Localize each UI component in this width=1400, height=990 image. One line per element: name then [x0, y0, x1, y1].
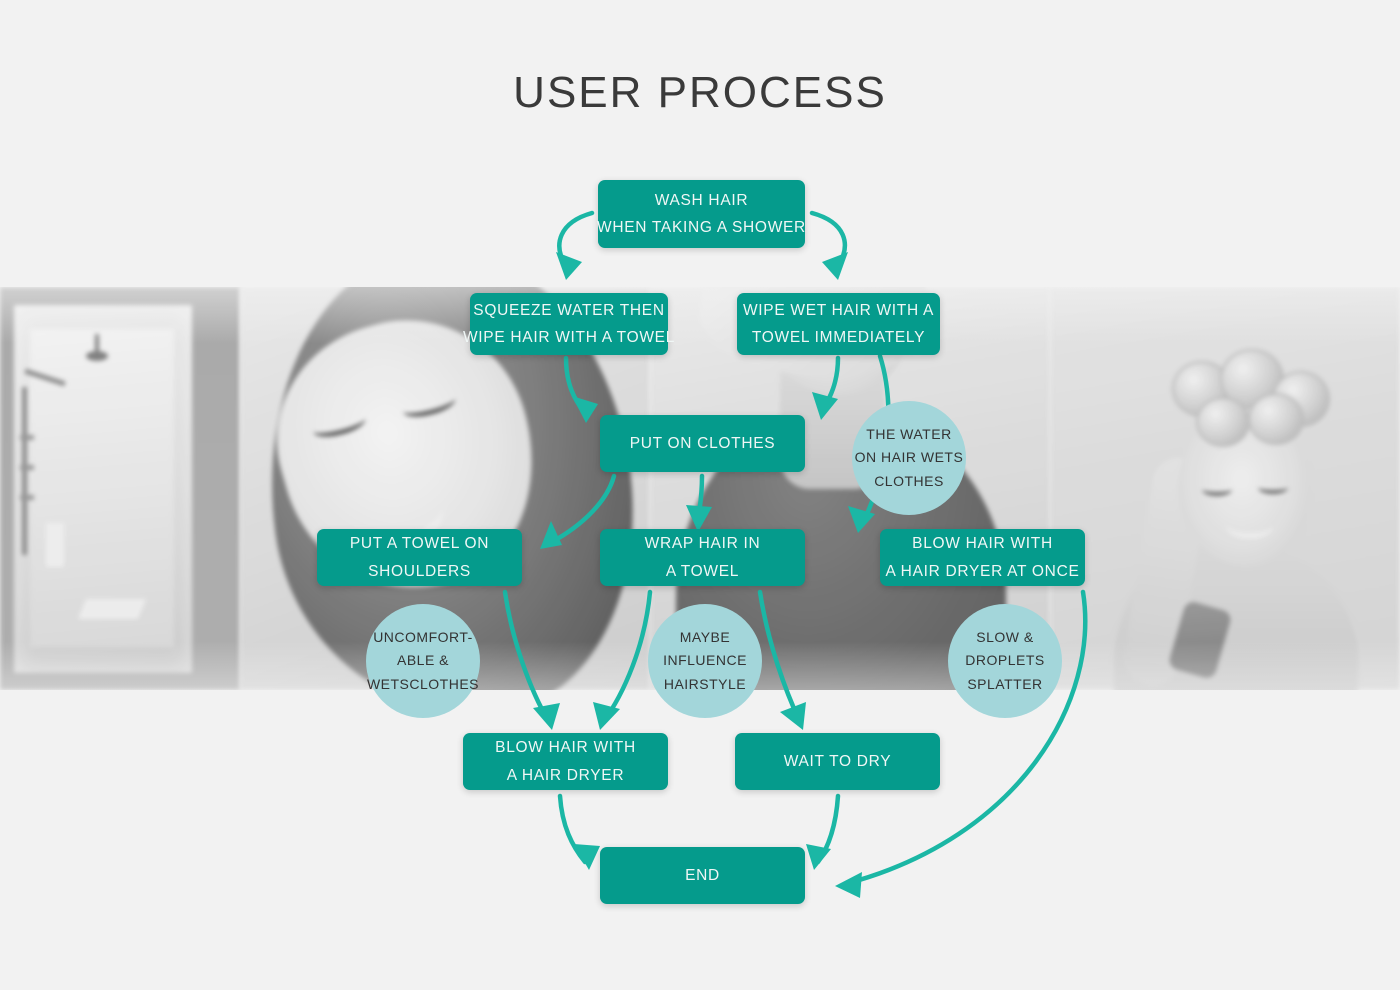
node-line: PUT ON CLOTHES — [630, 430, 776, 457]
diagram-canvas: USER PROCESS — [0, 0, 1400, 990]
node-line: WHEN TAKING A SHOWER — [597, 214, 806, 241]
node-wash-hair[interactable]: WASH HAIR WHEN TAKING A SHOWER — [598, 180, 805, 248]
arrowhead-wash-to-squeeze — [556, 252, 582, 280]
node-end[interactable]: END — [600, 847, 805, 904]
node-line: TOWEL IMMEDIATELY — [752, 324, 925, 351]
bubble-line: INFLUENCE — [663, 649, 747, 672]
bubble-slow-droplets-splatter[interactable]: SLOW & DROPLETS SPLATTER — [948, 604, 1062, 718]
bubble-line: HAIRSTYLE — [664, 673, 746, 696]
node-line: SQUEEZE WATER THEN — [473, 297, 664, 324]
bubble-line: ABLE & — [397, 649, 449, 672]
bubble-line: DROPLETS — [965, 649, 1044, 672]
arrowhead-wrap-to-blow — [593, 702, 620, 730]
node-line: A TOWEL — [666, 558, 739, 585]
bubble-water-wets-clothes[interactable]: THE WATER ON HAIR WETS CLOTHES — [852, 401, 966, 515]
bubble-uncomfortable-wet-clothes[interactable]: UNCOMFORT- ABLE & WETSCLOTHES — [366, 604, 480, 718]
bubble-influence-hairstyle[interactable]: MAYBE INFLUENCE HAIRSTYLE — [648, 604, 762, 718]
edge-wash-to-wipe — [812, 213, 845, 266]
edge-wait-to-end — [818, 796, 838, 862]
bubble-line: CLOTHES — [874, 470, 944, 493]
arrowhead-wrap-to-wait — [780, 702, 806, 730]
node-squeeze-water[interactable]: SQUEEZE WATER THEN WIPE HAIR WITH A TOWE… — [470, 293, 668, 355]
bubble-line: THE WATER — [866, 423, 951, 446]
shower-stall-photo — [0, 287, 240, 690]
node-line: WIPE WET HAIR WITH A — [743, 297, 934, 324]
arrowhead-blowonce-to-end — [835, 872, 862, 898]
node-line: WAIT TO DRY — [784, 748, 892, 775]
arrowhead-blow-to-end — [574, 844, 600, 870]
page-title: USER PROCESS — [0, 68, 1400, 118]
node-line: WIPE HAIR WITH A TOWEL — [463, 324, 675, 351]
edge-wash-to-squeeze — [559, 213, 592, 266]
bubble-line: WETSCLOTHES — [367, 673, 479, 696]
node-line: A HAIR DRYER AT ONCE — [885, 558, 1079, 585]
bubble-line: MAYBE — [680, 626, 730, 649]
node-line: WRAP HAIR IN — [645, 530, 761, 557]
node-put-towel-on-shoulders[interactable]: PUT A TOWEL ON SHOULDERS — [317, 529, 522, 586]
arrowhead-shoulders-to-blow — [533, 703, 560, 730]
arrowhead-wait-to-end — [806, 844, 831, 870]
node-blow-hair-at-once[interactable]: BLOW HAIR WITH A HAIR DRYER AT ONCE — [880, 529, 1085, 586]
node-line: BLOW HAIR WITH — [912, 530, 1053, 557]
node-wrap-hair-in-towel[interactable]: WRAP HAIR IN A TOWEL — [600, 529, 805, 586]
edge-blow-to-end — [560, 796, 585, 862]
arrowhead-wash-to-wipe — [822, 252, 848, 280]
node-blow-hair-with-dryer[interactable]: BLOW HAIR WITH A HAIR DRYER — [463, 733, 668, 790]
woman-with-hair-dryer-photo — [1050, 287, 1400, 690]
bubble-line: SLOW & — [976, 626, 1033, 649]
node-wipe-wet-hair[interactable]: WIPE WET HAIR WITH A TOWEL IMMEDIATELY — [737, 293, 940, 355]
node-line: BLOW HAIR WITH — [495, 734, 636, 761]
bubble-line: ON HAIR WETS — [855, 446, 964, 469]
node-put-on-clothes[interactable]: PUT ON CLOTHES — [600, 415, 805, 472]
bubble-line: SPLATTER — [967, 673, 1042, 696]
node-wait-to-dry[interactable]: WAIT TO DRY — [735, 733, 940, 790]
node-line: END — [685, 862, 720, 889]
node-line: WASH HAIR — [655, 187, 749, 214]
node-line: SHOULDERS — [368, 558, 471, 585]
bubble-line: UNCOMFORT- — [373, 626, 473, 649]
node-line: A HAIR DRYER — [507, 762, 625, 789]
node-line: PUT A TOWEL ON — [350, 530, 489, 557]
